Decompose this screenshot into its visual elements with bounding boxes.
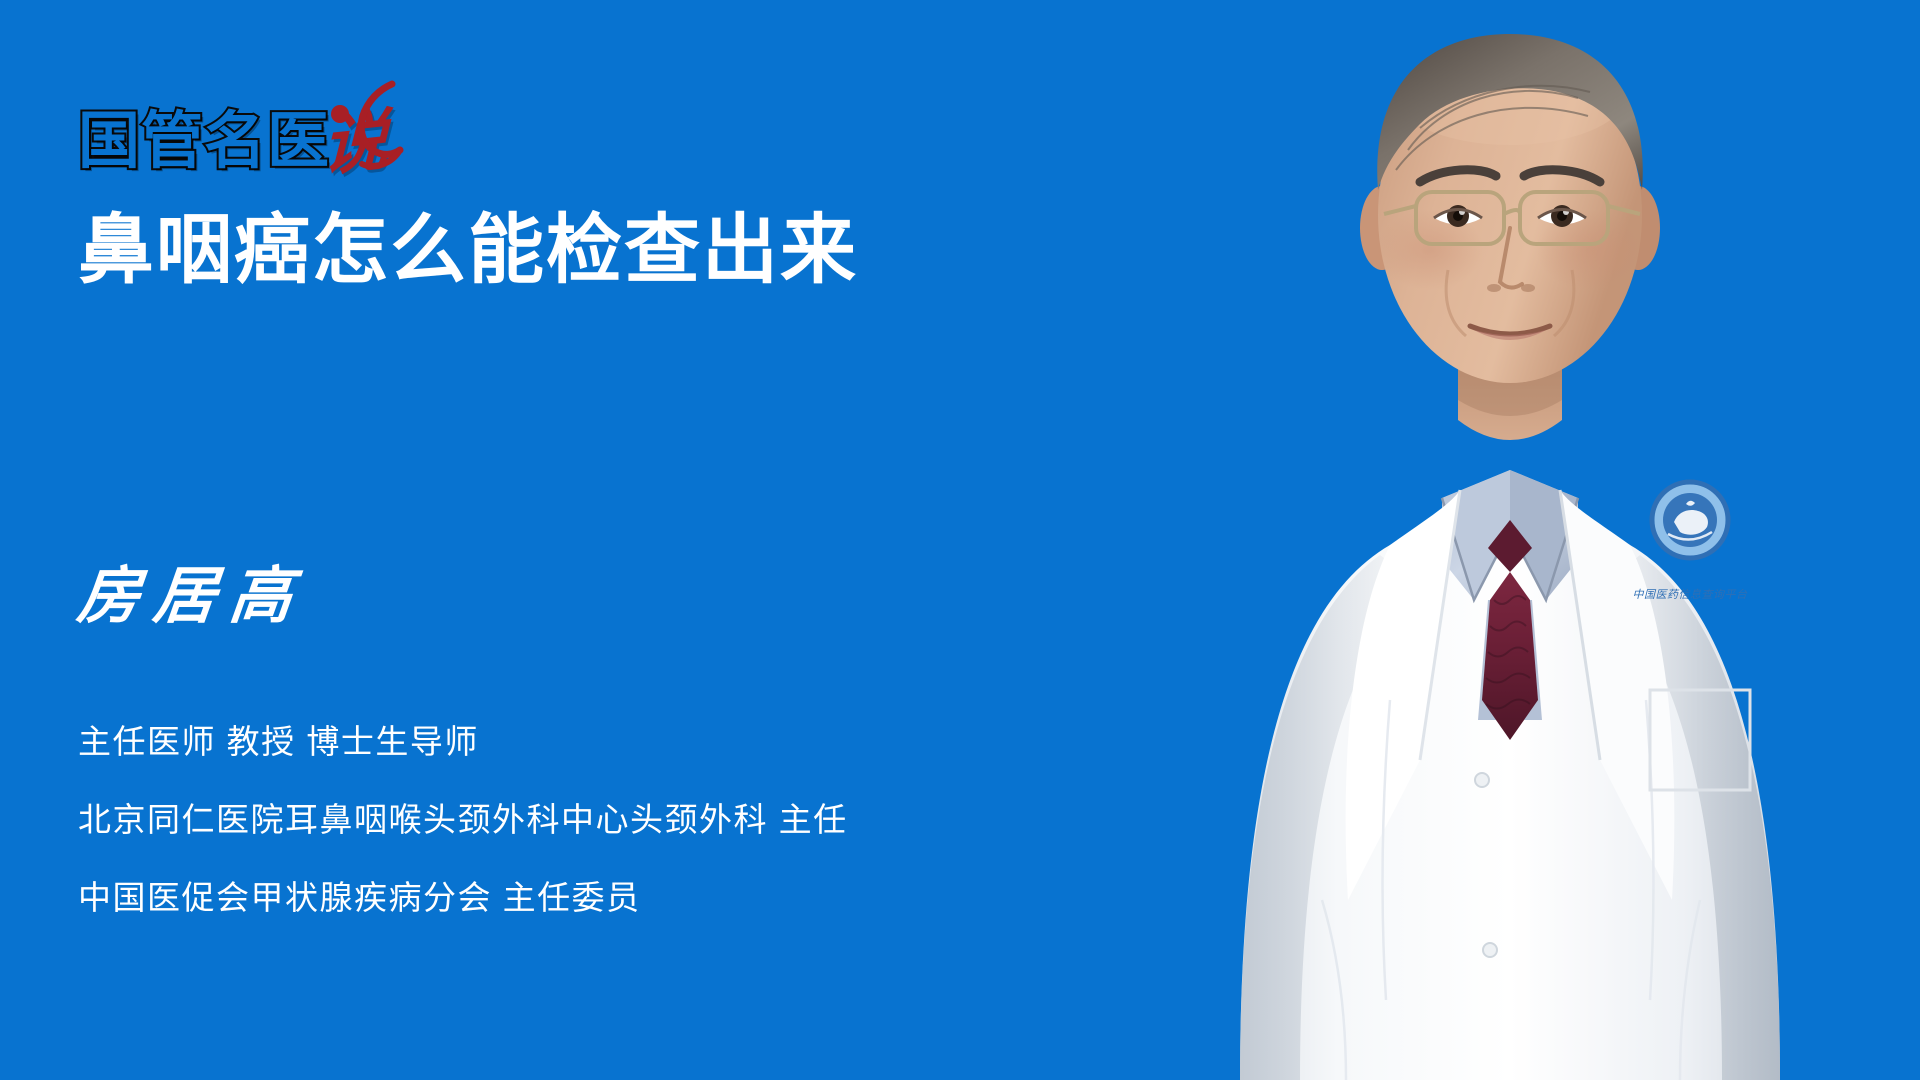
doctor-name: 房居高: [75, 565, 310, 627]
credential-line-3: 中国医促会甲状腺疾病分会 主任委员: [78, 881, 1078, 914]
coat-badge: [1650, 480, 1730, 560]
doctor-portrait: 中国医药信息查询平台: [1090, 0, 1920, 1080]
promo-card: 国管名医 说 鼻咽癌怎么能检查出来 房居高 主任医师 教授 博士生导师 北京同仁…: [0, 0, 1920, 1080]
eyeglasses-icon: [1384, 192, 1640, 244]
brand-logo-main-text: 国管名医: [78, 110, 330, 172]
brand-logo: 国管名医 说: [78, 92, 388, 172]
coat-badge-text: 中国医药信息查询平台: [1633, 588, 1748, 601]
brand-logo-accent-text: 说: [322, 106, 389, 179]
doctor-credentials: 主任医师 教授 博士生导师 北京同仁医院耳鼻咽喉头颈外科中心头颈外科 主任 中国…: [78, 725, 1078, 914]
credential-line-2: 北京同仁医院耳鼻咽喉头颈外科中心头颈外科 主任: [78, 803, 1078, 836]
credential-line-1: 主任医师 教授 博士生导师: [78, 725, 1078, 758]
page-title: 鼻咽癌怎么能检查出来: [78, 208, 1058, 293]
